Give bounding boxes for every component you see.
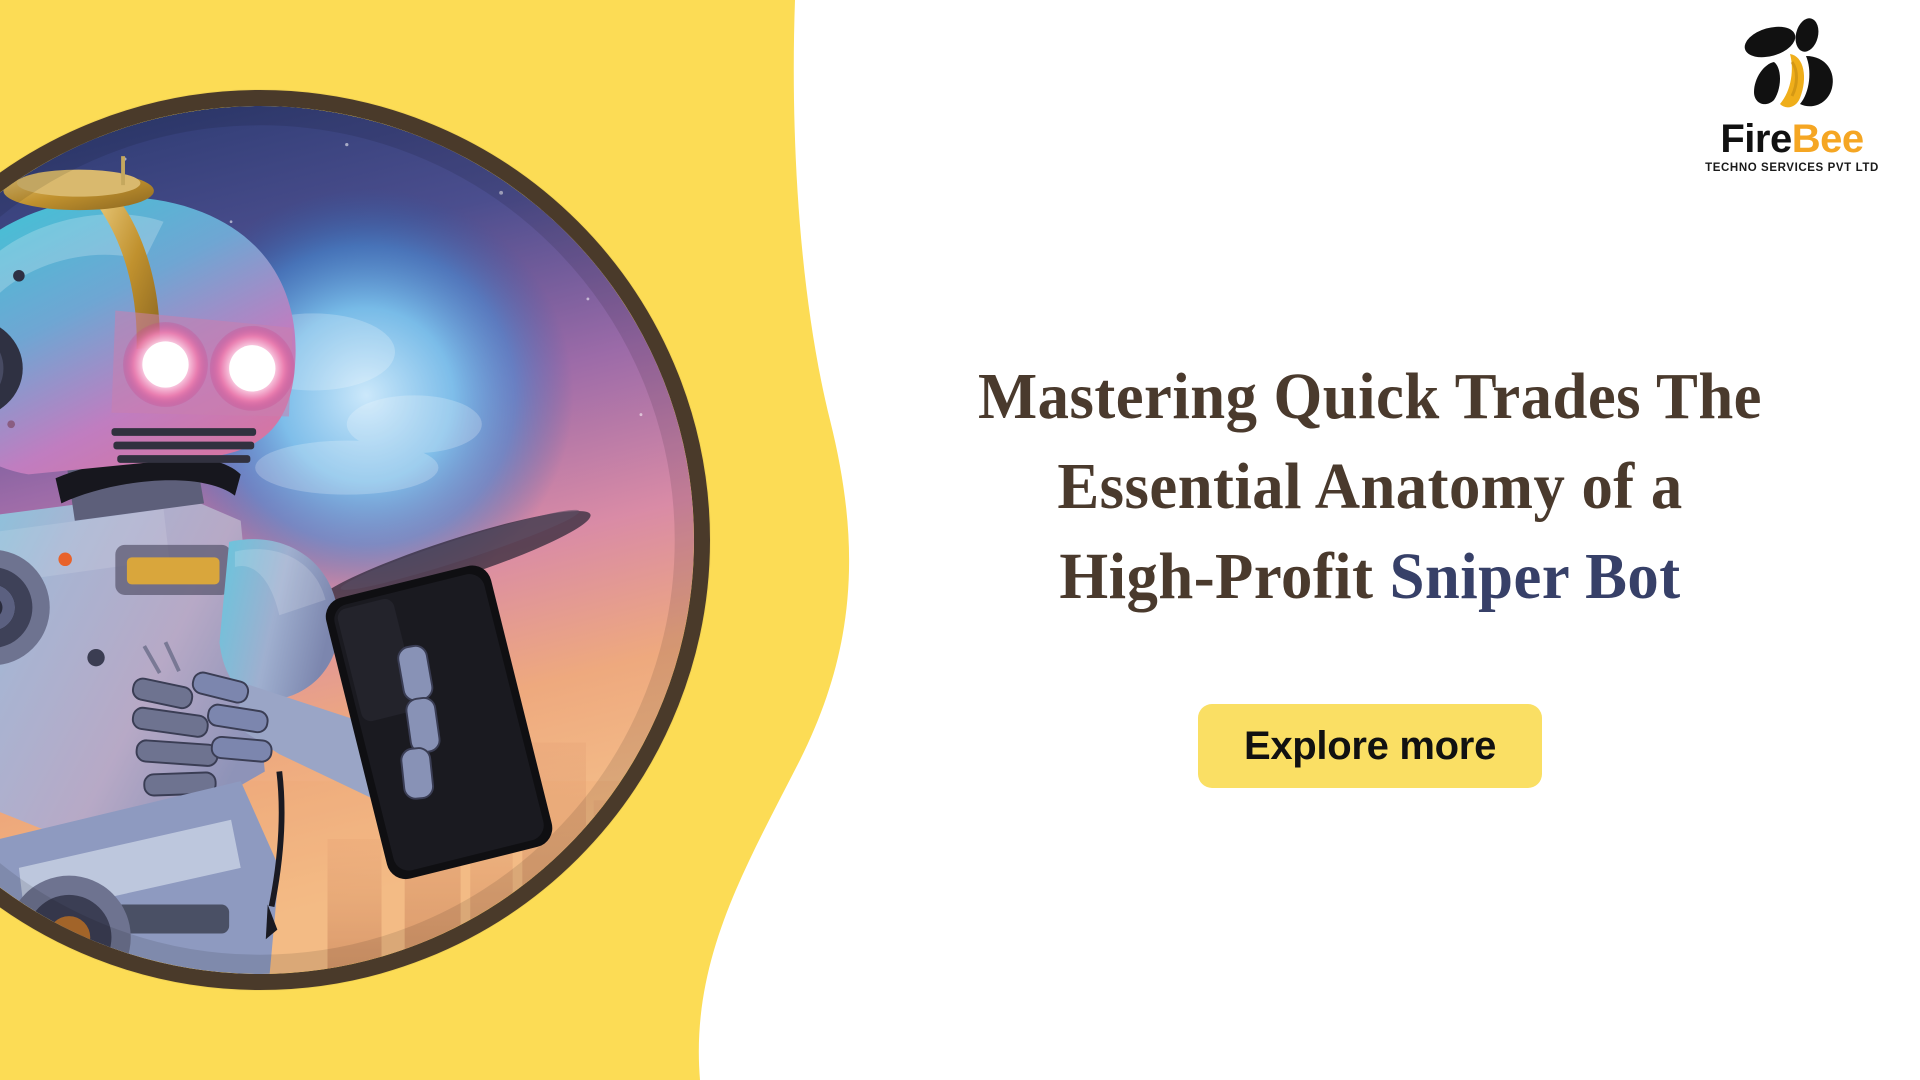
robot-scene-illustration <box>0 106 694 974</box>
logo-name-fire: Fire <box>1720 117 1791 161</box>
cta-container: Explore more <box>820 704 1920 788</box>
brand-logo[interactable]: FireBee TECHNO SERVICES PVT LTD <box>1692 18 1892 174</box>
headline-line-3-prefix: High-Profit <box>1059 540 1389 613</box>
headline-accent: Sniper Bot <box>1390 540 1681 613</box>
headline-line-1: Mastering Quick Trades The <box>848 352 1893 442</box>
page-title: Mastering Quick Trades The Essential Ana… <box>848 352 1893 621</box>
logo-tagline: TECHNO SERVICES PVT LTD <box>1692 162 1892 174</box>
bee-icon <box>1732 18 1852 123</box>
logo-wordmark: FireBee <box>1692 119 1892 159</box>
headline-line-3: High-Profit Sniper Bot <box>848 532 1893 622</box>
logo-name-bee: Bee <box>1792 117 1864 161</box>
explore-more-button[interactable]: Explore more <box>1198 704 1542 788</box>
headline-line-2: Essential Anatomy of a <box>848 442 1893 532</box>
hero-banner: FireBee TECHNO SERVICES PVT LTD Masterin… <box>0 0 1920 1080</box>
